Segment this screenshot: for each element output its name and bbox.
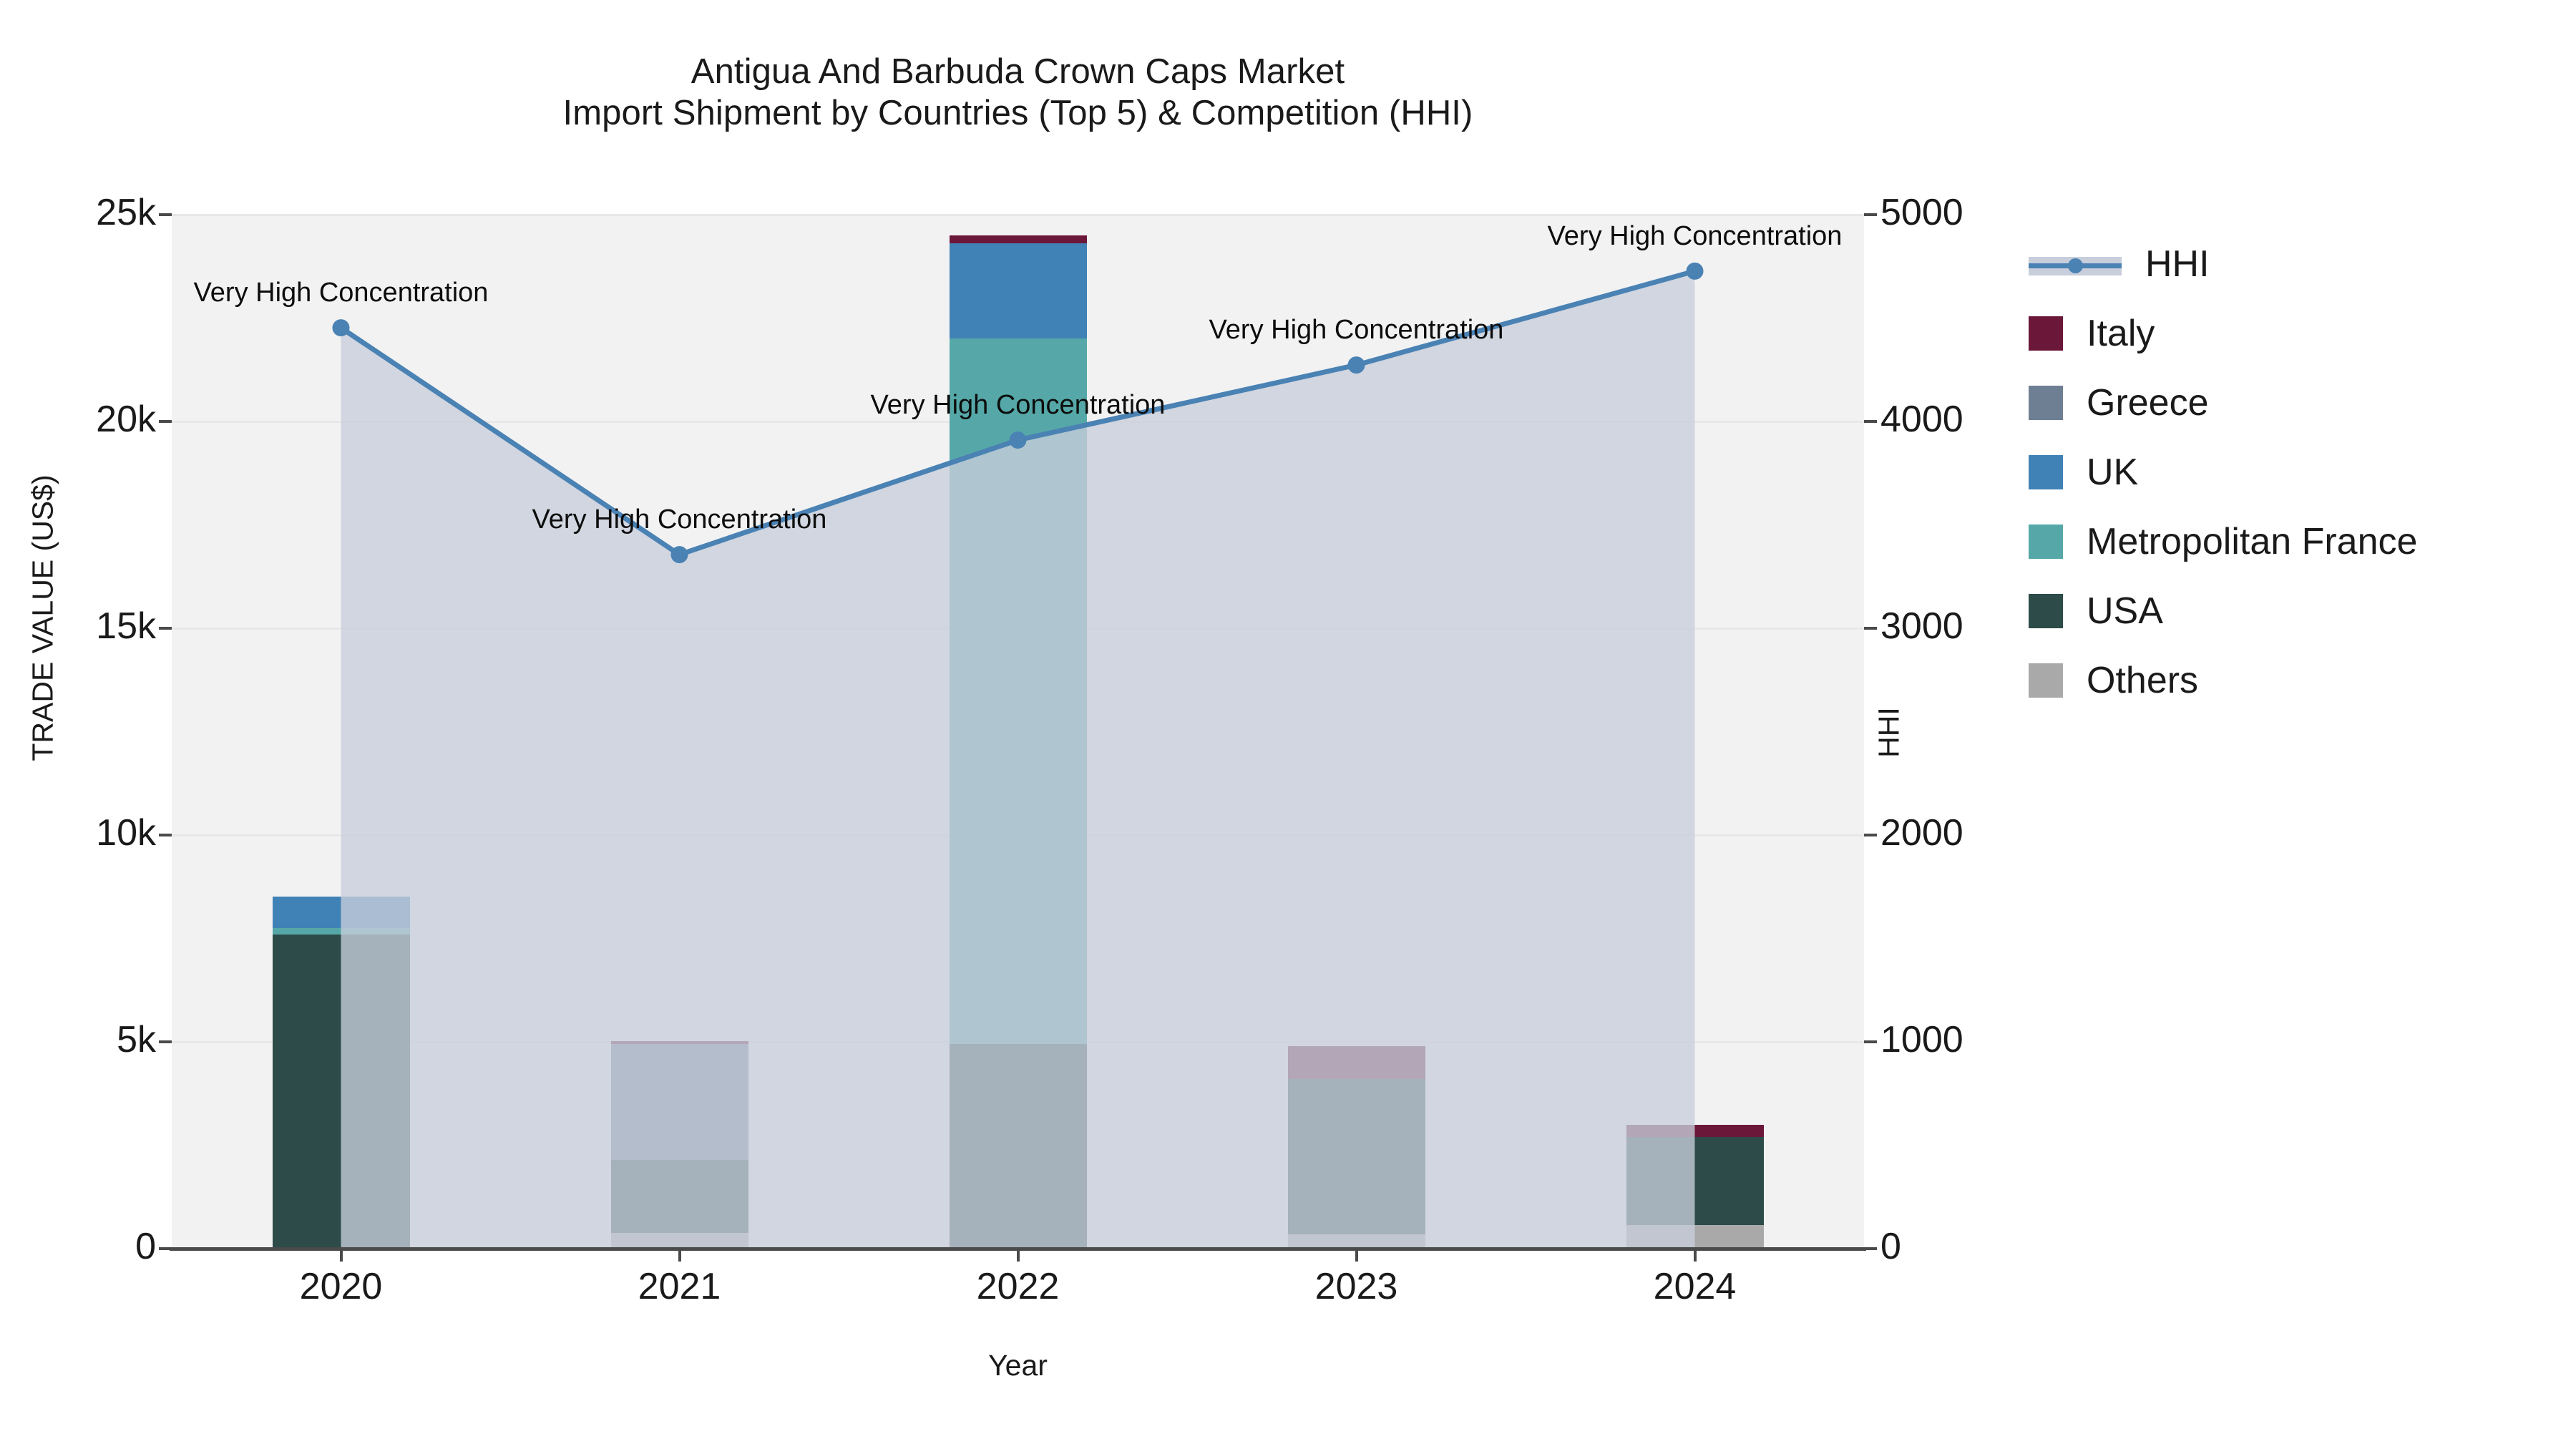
legend-line-marker-icon [2029,247,2122,281]
bar-segment[interactable] [950,243,1087,338]
y-axis-right-tick-mark [1864,420,1877,423]
hhi-annotation-label: Very High Concentration [532,504,827,535]
chart-title-line-2: Import Shipment by Countries (Top 5) & C… [172,93,1864,135]
chart-title: Antigua And Barbuda Crown Caps Market Im… [172,52,1864,135]
x-axis-tick-label: 2021 [572,1265,787,1308]
bar-segment[interactable] [611,1041,748,1043]
y-axis-left-tick-label: 0 [13,1225,156,1268]
legend-item-label: USA [2087,592,2163,630]
x-axis-tick-label: 2023 [1249,1265,1464,1308]
bar-segment[interactable] [273,928,410,935]
legend-color-swatch-icon [2029,386,2063,420]
legend: HHIItalyGreeceUKMetropolitan FranceUSAOt… [2029,229,2558,715]
legend-item-usa[interactable]: USA [2029,576,2558,645]
legend-item-greece[interactable]: Greece [2029,368,2558,437]
legend-color-swatch-icon [2029,316,2063,351]
legend-item-italy[interactable]: Italy [2029,298,2558,368]
y-axis-right-label: HHI [1873,590,1906,876]
legend-item-label: HHI [2145,245,2210,283]
bar-segment[interactable] [611,1044,748,1160]
bar-segment[interactable] [1288,1234,1425,1249]
y-axis-left-tick-mark [159,213,172,216]
y-axis-right-tick-label: 4000 [1880,398,2052,441]
legend-item-label: Others [2087,662,2198,699]
bar-segment[interactable] [950,1044,1087,1249]
y-axis-right-tick-label: 1000 [1880,1018,2052,1061]
gridline [172,214,1864,216]
legend-item-uk[interactable]: UK [2029,437,2558,507]
hhi-annotation-label: Very High Concentration [1548,221,1843,252]
x-axis-label: Year [172,1349,1864,1382]
legend-item-label: Italy [2087,315,2155,352]
y-axis-left-tick-label: 25k [13,191,156,234]
x-axis-tick-label: 2024 [1588,1265,1802,1308]
y-axis-right-tick-label: 5000 [1880,191,2052,234]
y-axis-left-tick-mark [159,420,172,423]
hhi-annotation-label: Very High Concentration [1209,315,1504,346]
legend-color-swatch-icon [2029,594,2063,628]
legend-color-swatch-icon [2029,455,2063,489]
legend-item-hhi[interactable]: HHI [2029,229,2558,298]
hhi-annotation-label: Very High Concentration [871,390,1166,421]
bar-segment[interactable] [1626,1125,1764,1137]
y-axis-right-tick-label: 3000 [1880,605,2052,648]
y-axis-right-tick-mark [1864,1040,1877,1043]
legend-color-swatch-icon [2029,525,2063,559]
chart-title-line-1: Antigua And Barbuda Crown Caps Market [172,52,1864,93]
bar-segment[interactable] [1626,1137,1764,1225]
bar-segment[interactable] [611,1160,748,1233]
y-axis-left-tick-mark [159,1040,172,1043]
hhi-annotation-label: Very High Concentration [194,278,489,308]
bar-segment[interactable] [273,935,410,1249]
y-axis-left-tick-label: 5k [13,1018,156,1061]
x-axis-tick-label: 2022 [911,1265,1126,1308]
bar-segment[interactable] [1288,1079,1425,1234]
y-axis-left-tick-mark [159,834,172,836]
x-axis-line [170,1247,1866,1251]
legend-item-label: Metropolitan France [2087,523,2417,560]
bar-segment[interactable] [1626,1225,1764,1249]
y-axis-left-tick-mark [159,627,172,630]
legend-item-metropolitan-france[interactable]: Metropolitan France [2029,507,2558,576]
bar-segment[interactable] [1288,1046,1425,1079]
legend-item-others[interactable]: Others [2029,645,2558,715]
legend-item-label: Greece [2087,384,2209,421]
legend-item-label: UK [2087,454,2138,491]
y-axis-left-label: TRADE VALUE (US$) [26,368,60,869]
bar-segment[interactable] [950,338,1087,1043]
y-axis-right-tick-mark [1864,213,1877,216]
y-axis-right-tick-label: 0 [1880,1225,2052,1268]
bar-segment[interactable] [273,897,410,928]
x-axis-tick-label: 2020 [234,1265,449,1308]
bar-segment[interactable] [611,1233,748,1249]
y-axis-right-tick-label: 2000 [1880,811,2052,854]
legend-color-swatch-icon [2029,663,2063,698]
bar-segment[interactable] [950,235,1087,244]
